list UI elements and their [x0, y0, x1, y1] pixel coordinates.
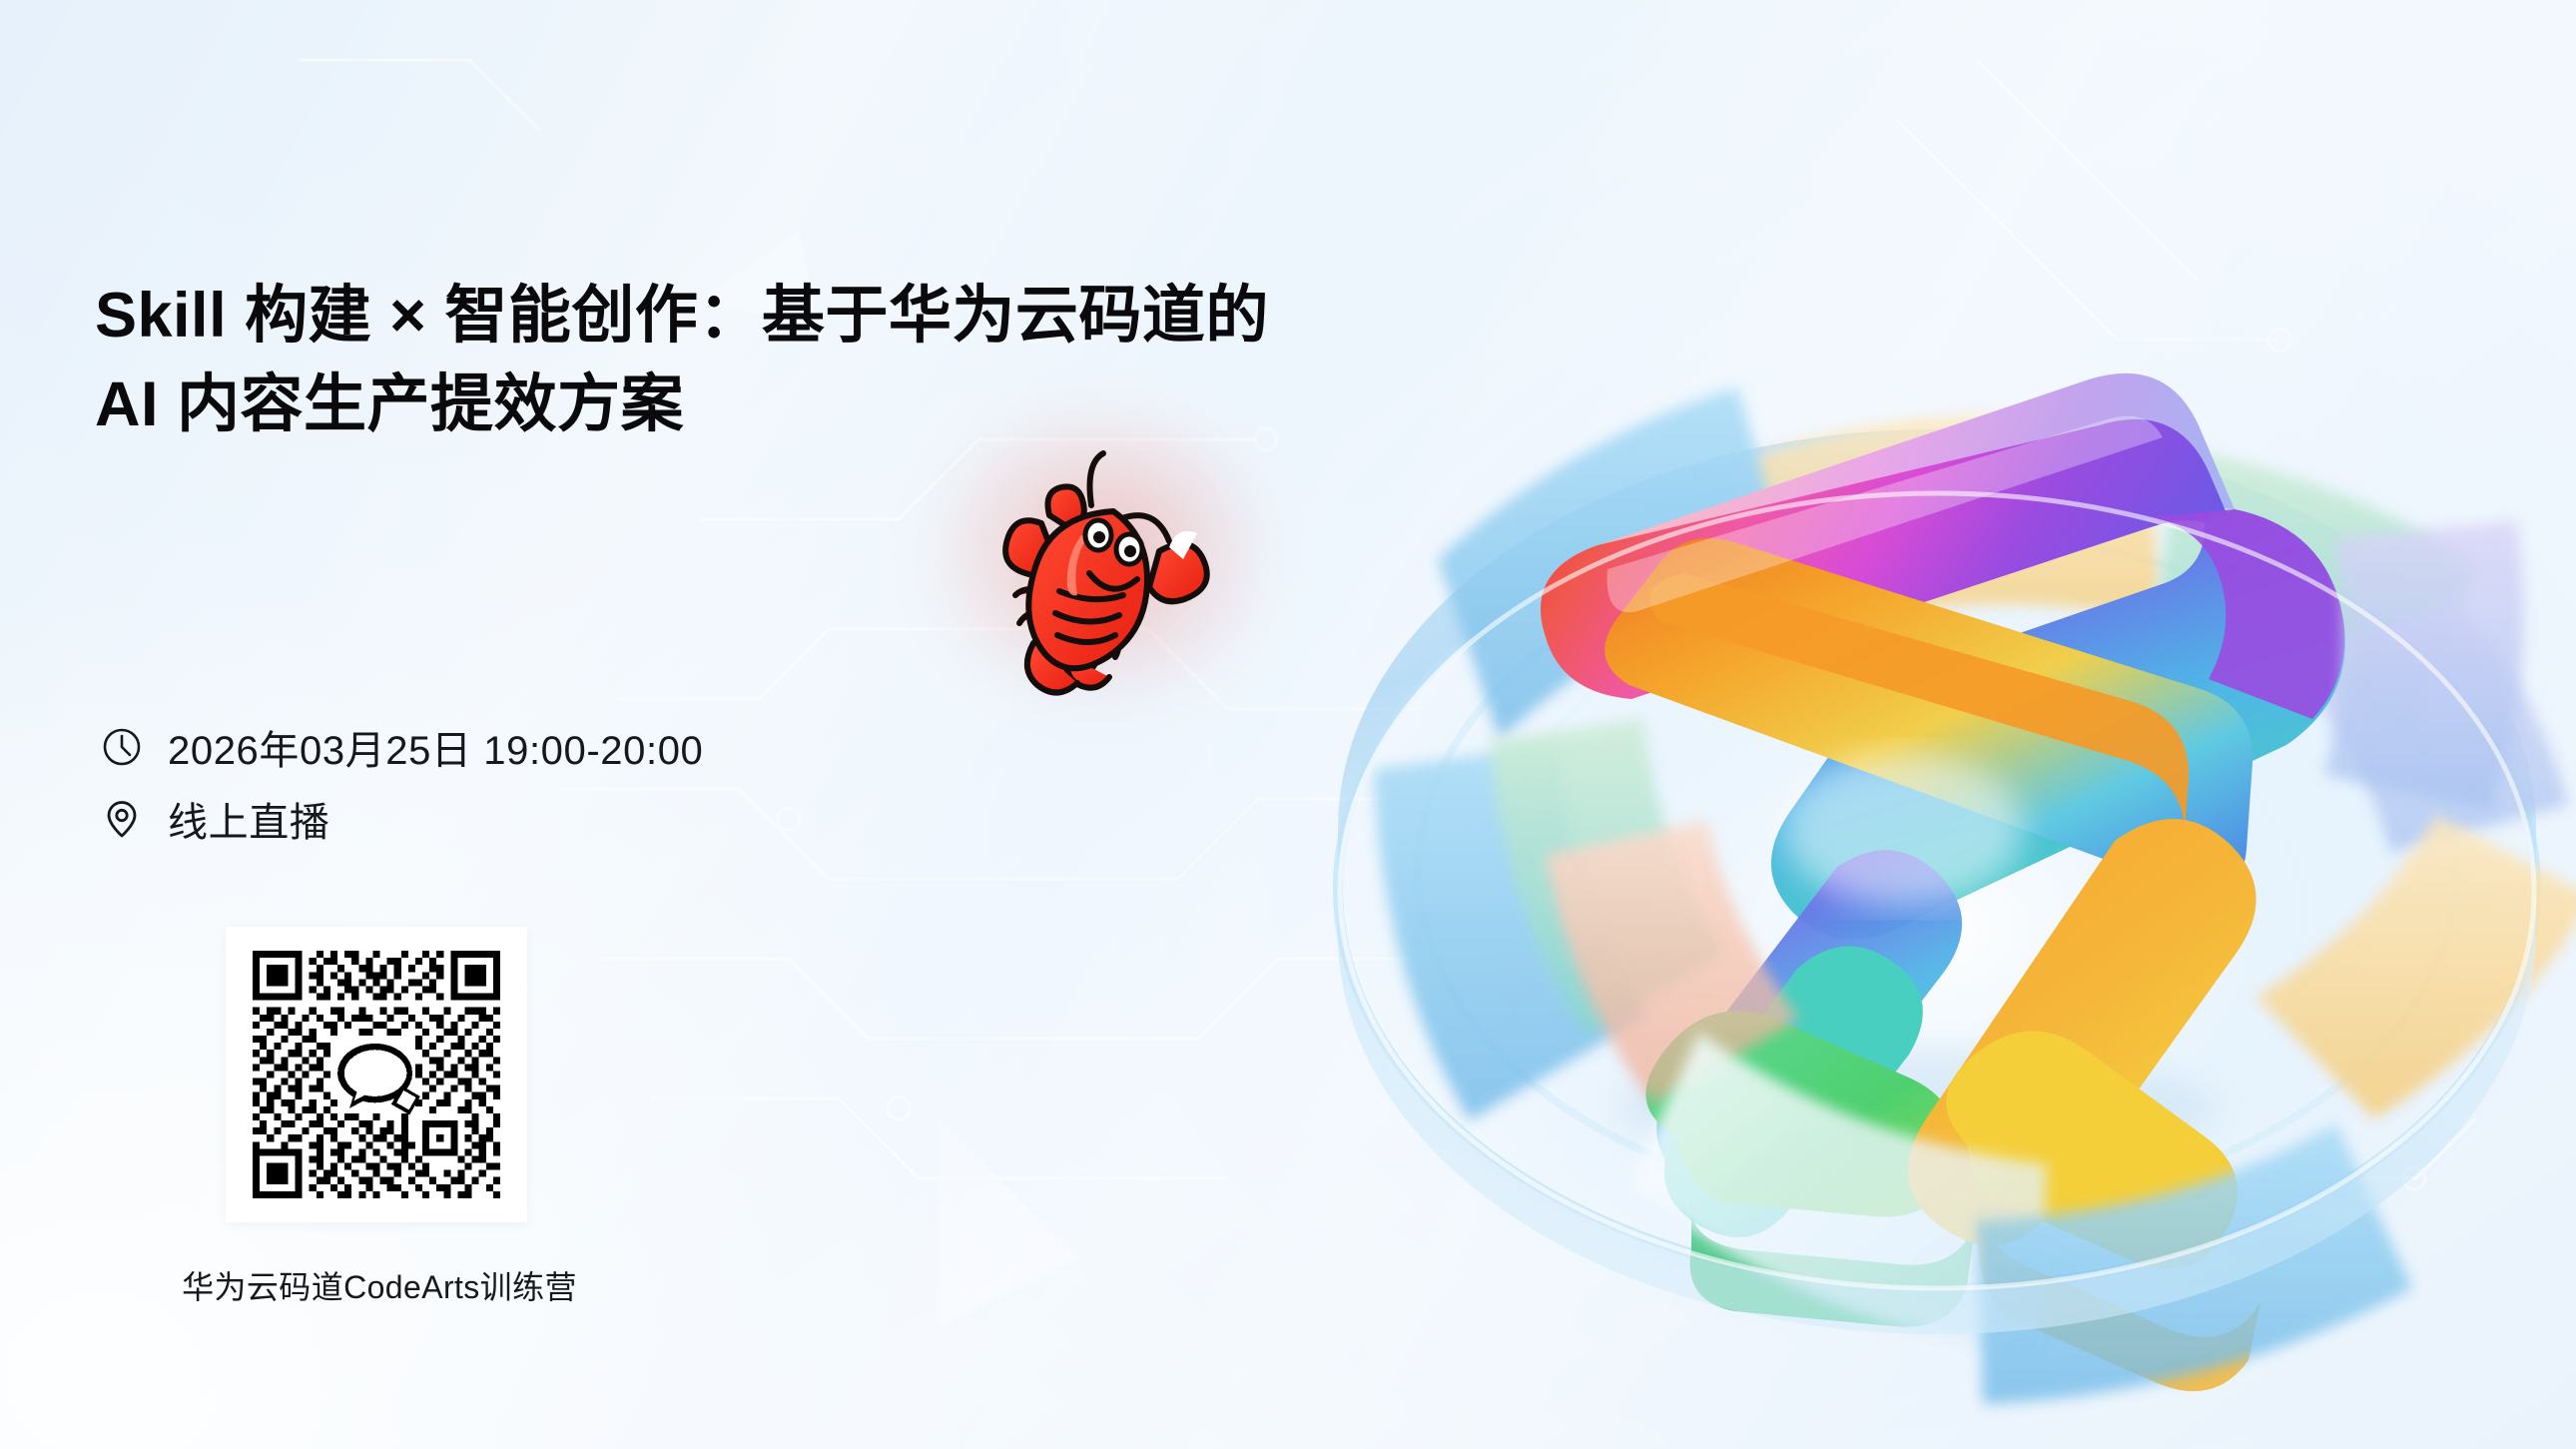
map-pin-icon [100, 797, 144, 841]
title-line-1: Skill 构建 × 智能创作：基于华为云码道的 [95, 272, 1273, 361]
event-meta: 2026年03月25日 19:00-20:00 线上直播 [100, 711, 703, 855]
title-line-2: AI 内容生产提效方案 [95, 361, 1273, 449]
chat-bubble-icon [337, 1036, 420, 1114]
qr-code[interactable] [226, 927, 527, 1222]
event-location-text: 线上直播 [168, 790, 329, 848]
event-datetime-row: 2026年03月25日 19:00-20:00 [100, 711, 703, 783]
left-content-column: Skill 构建 × 智能创作：基于华为云码道的 AI 内容生产提效方案 202… [0, 0, 1298, 1449]
qr-caption: 华为云码道CodeArts训练营 [140, 1262, 619, 1308]
codearts-3d-logo [1278, 130, 2576, 1449]
event-datetime-text: 2026年03月25日 19:00-20:00 [168, 718, 703, 776]
page-title: Skill 构建 × 智能创作：基于华为云码道的 AI 内容生产提效方案 [95, 272, 1273, 450]
clock-icon [100, 725, 144, 769]
event-location-row: 线上直播 [100, 783, 703, 855]
event-poster: Skill 构建 × 智能创作：基于华为云码道的 AI 内容生产提效方案 202… [0, 0, 2576, 1449]
